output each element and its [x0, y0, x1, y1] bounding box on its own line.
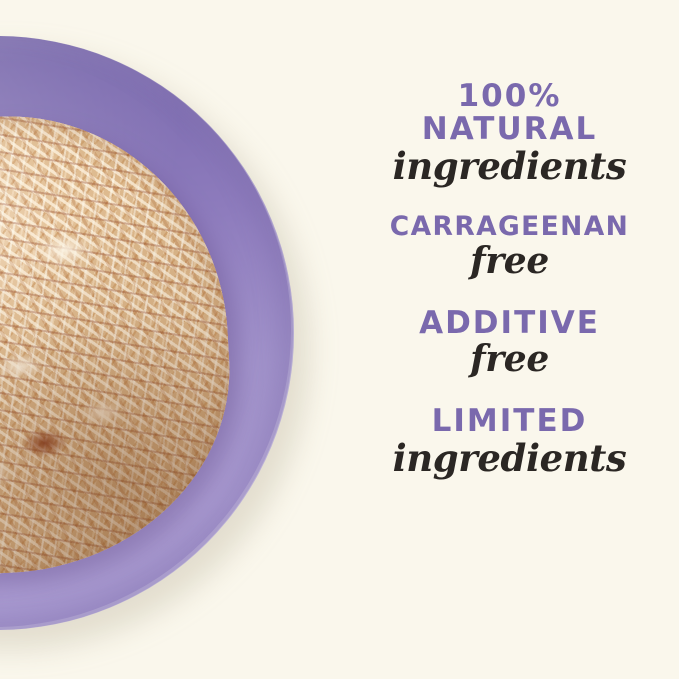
claim-limited-ingredients: LIMITED ingredients	[340, 405, 679, 479]
claim-script-word: free	[340, 242, 679, 281]
claim-headline: LIMITED	[340, 405, 679, 438]
claim-script-word: free	[340, 340, 679, 379]
food-mound	[0, 105, 240, 586]
claim-additive-free: ADDITIVE free	[340, 307, 679, 380]
claim-headline: 100% NATURAL	[340, 80, 679, 146]
claim-headline: ADDITIVE	[340, 307, 679, 340]
product-benefits-panel: 100% NATURAL ingredients CARRAGEENAN fre…	[0, 0, 679, 679]
claim-natural-ingredients: 100% NATURAL ingredients	[340, 80, 679, 187]
claim-carrageenan-free: CARRAGEENAN free	[340, 213, 679, 281]
claim-headline: CARRAGEENAN	[340, 213, 679, 241]
claim-script-word: ingredients	[340, 147, 679, 187]
claims-list: 100% NATURAL ingredients CARRAGEENAN fre…	[340, 0, 679, 679]
claim-script-word: ingredients	[340, 439, 679, 479]
product-photo	[0, 0, 340, 679]
